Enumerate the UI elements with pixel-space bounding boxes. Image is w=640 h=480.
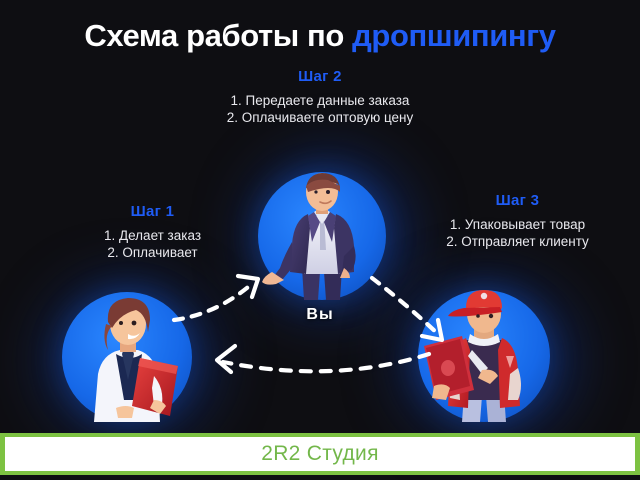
arrow-courier-to-customer xyxy=(205,338,435,396)
brand-name: 2R2 Студия xyxy=(261,442,379,466)
footer-banner-inner: 2R2 Студия xyxy=(5,437,635,471)
center-label-you: Вы xyxy=(0,306,640,324)
step-1-block: Шаг 1 1. Делает заказ 2. Оплачивает xyxy=(45,203,260,261)
page-title-main: Схема работы по xyxy=(84,18,352,53)
page-title-accent: дропшипингу xyxy=(352,18,555,53)
step-1-line-1: 1. Делает заказ xyxy=(45,227,260,244)
step-3-line-1: 1. Упаковывает товар xyxy=(405,216,630,233)
step-2-line-1: 1. Передаете данные заказа xyxy=(170,92,470,109)
footer-banner: 2R2 Студия xyxy=(0,433,640,475)
page-title: Схема работы по дропшипингу xyxy=(0,18,640,54)
step-1-line-2: 2. Оплачивает xyxy=(45,244,260,261)
slide-canvas: Схема работы по дропшипингу Шаг 2 1. Пер… xyxy=(0,0,640,480)
step-2-heading: Шаг 2 xyxy=(170,68,470,85)
step-1-heading: Шаг 1 xyxy=(45,203,260,220)
step-2-line-2: 2. Оплачиваете оптовую цену xyxy=(170,109,470,126)
step-3-block: Шаг 3 1. Упаковывает товар 2. Отправляет… xyxy=(405,192,630,250)
businessman-in-suit-icon xyxy=(258,172,386,300)
step-2-block: Шаг 2 1. Передаете данные заказа 2. Опла… xyxy=(170,68,470,126)
step-3-heading: Шаг 3 xyxy=(405,192,630,209)
step-3-line-2: 2. Отправляет клиенту xyxy=(405,233,630,250)
figure-you xyxy=(258,172,386,300)
